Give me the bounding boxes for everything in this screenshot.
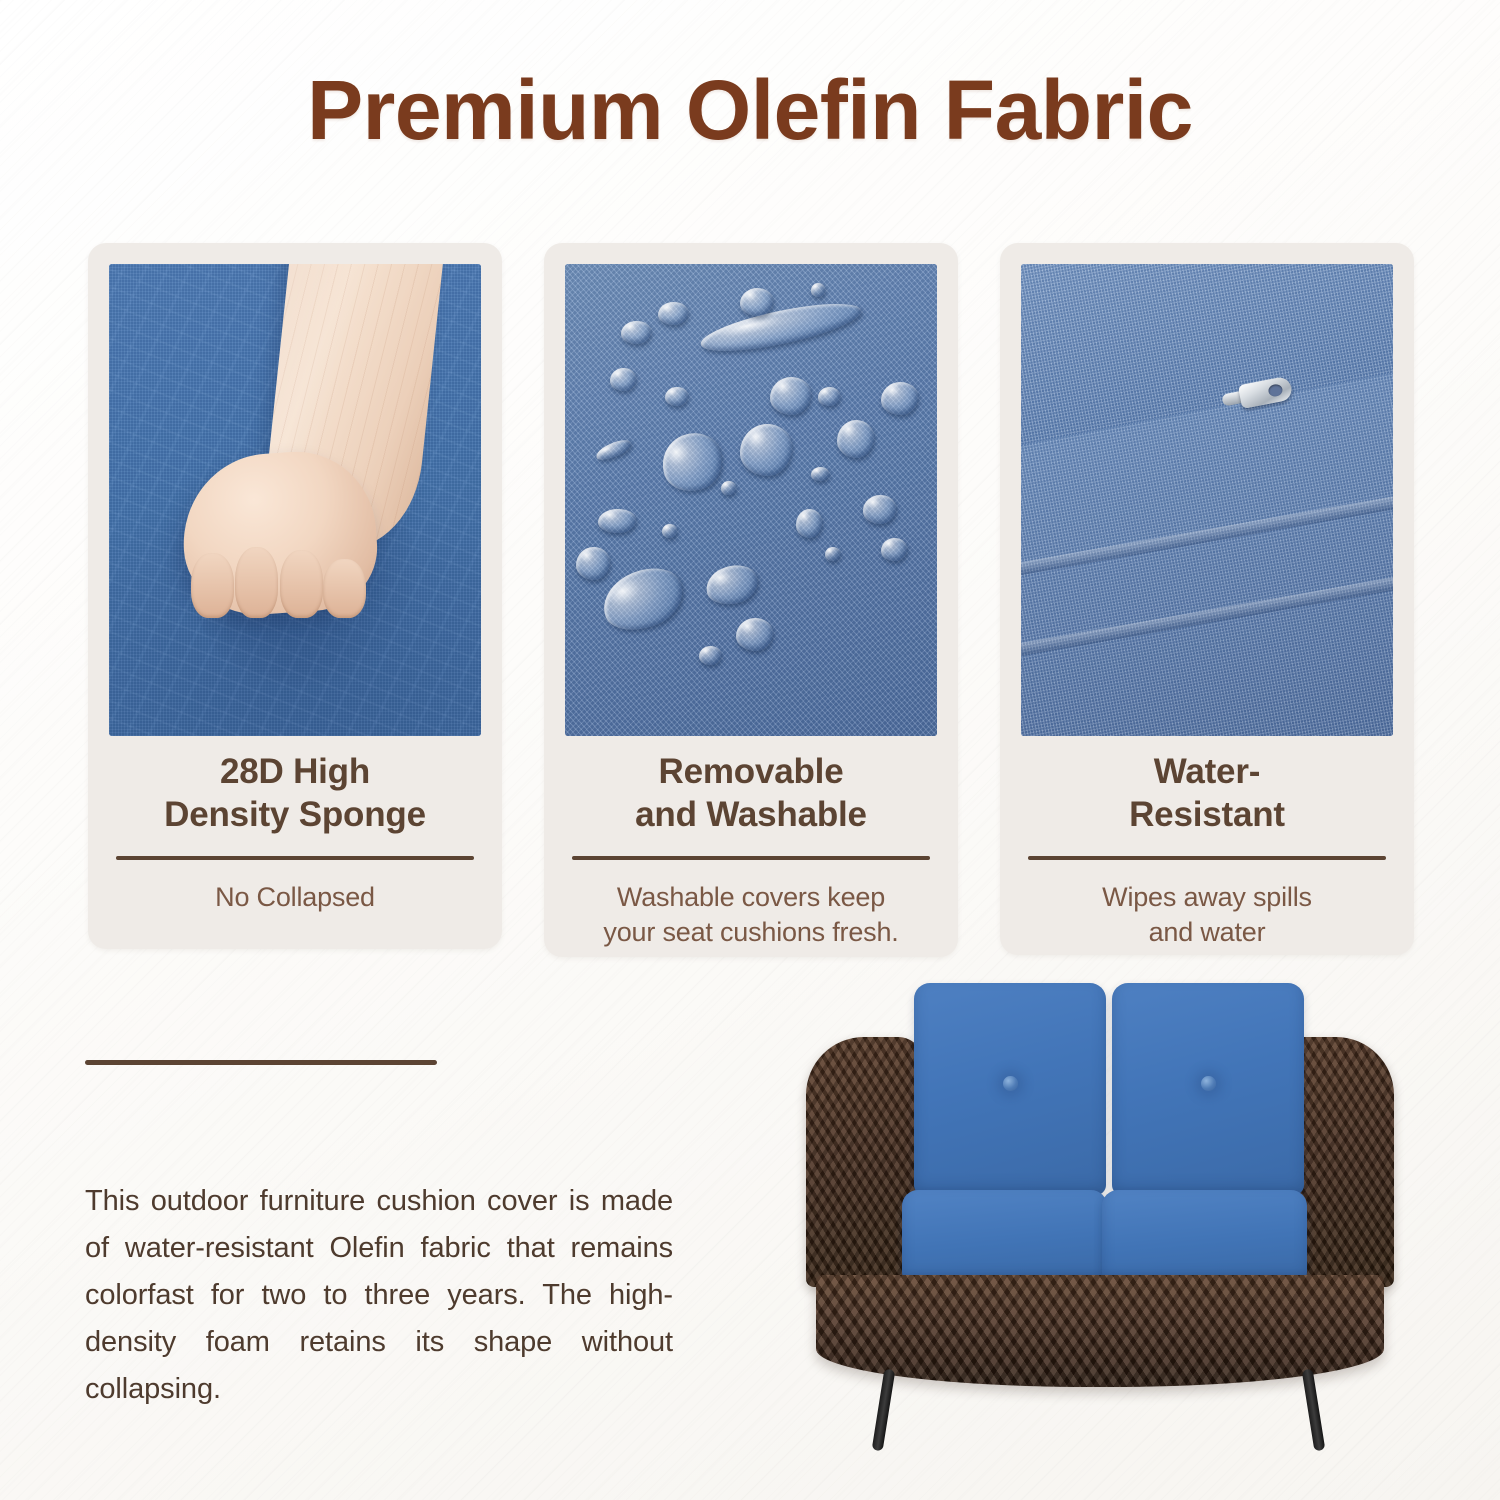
photo-water-droplets xyxy=(565,264,937,736)
subtitle-line-1: Wipes away spills xyxy=(1022,880,1392,915)
back-cushion-left xyxy=(914,983,1106,1195)
seat-cushion-right xyxy=(1102,1190,1307,1282)
card-text-water-resistant: Water- Resistant Wipes away spills and w… xyxy=(1022,751,1392,951)
card-text-washable: Removable and Washable Washable covers k… xyxy=(566,751,936,951)
metal-leg-right xyxy=(1302,1369,1326,1452)
card-subtitle-water-resistant: Wipes away spills and water xyxy=(1022,880,1392,950)
photo-fist-on-cushion xyxy=(109,264,481,736)
heading-line-1: Removable xyxy=(566,751,936,794)
tuft-button-right xyxy=(1201,1076,1216,1091)
description-paragraph: This outdoor furniture cushion cover is … xyxy=(85,1178,673,1413)
card-subtitle-washable: Washable covers keep your seat cushions … xyxy=(566,880,936,950)
card-heading-water-resistant: Water- Resistant xyxy=(1022,751,1392,836)
card-heading-washable: Removable and Washable xyxy=(566,751,936,836)
card-divider xyxy=(1028,856,1386,860)
feature-card-sponge: 28D High Density Sponge No Collapsed xyxy=(88,243,502,949)
card-divider xyxy=(572,856,930,860)
feature-card-washable: Removable and Washable Washable covers k… xyxy=(544,243,958,957)
metal-leg-left xyxy=(872,1369,896,1452)
photo-zipper xyxy=(1021,264,1393,736)
back-cushion-right xyxy=(1112,983,1304,1195)
feature-card-water-resistant: Water- Resistant Wipes away spills and w… xyxy=(1000,243,1414,955)
infographic-page: Premium Olefin Fabric 28D High Density S… xyxy=(0,0,1500,1500)
subtitle-line-1: Washable covers keep xyxy=(566,880,936,915)
knuckles-shape xyxy=(191,547,370,618)
page-title: Premium Olefin Fabric xyxy=(0,66,1500,154)
seat-cushion-left xyxy=(902,1190,1107,1282)
description-rule xyxy=(85,1060,437,1065)
heading-line-1: Water- xyxy=(1022,751,1392,794)
subtitle-line-2: your seat cushions fresh. xyxy=(566,915,936,950)
heading-line-2: Resistant xyxy=(1022,794,1392,837)
feature-cards: 28D High Density Sponge No Collapsed xyxy=(88,243,1414,958)
card-subtitle-sponge: No Collapsed xyxy=(110,880,480,915)
heading-line-1: 28D High xyxy=(110,751,480,794)
card-text-sponge: 28D High Density Sponge No Collapsed xyxy=(110,751,480,915)
heading-line-2: and Washable xyxy=(566,794,936,837)
tuft-button-left xyxy=(1003,1076,1018,1091)
subtitle-line-2: and water xyxy=(1022,915,1392,950)
wicker-base xyxy=(816,1275,1384,1387)
card-divider xyxy=(116,856,474,860)
heading-line-2: Density Sponge xyxy=(110,794,480,837)
subtitle-line-1: No Collapsed xyxy=(110,880,480,915)
card-heading-sponge: 28D High Density Sponge xyxy=(110,751,480,836)
product-photo-loveseat xyxy=(790,975,1410,1415)
